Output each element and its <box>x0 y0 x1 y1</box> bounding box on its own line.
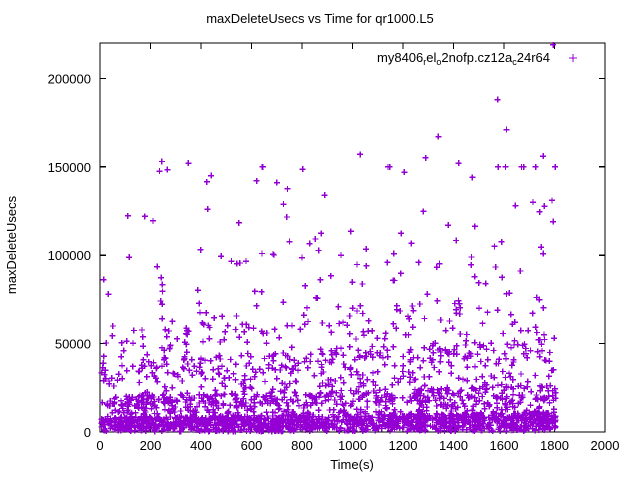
scatter-plot: maxDeleteUsecs vs Time for qr1000.L5 020… <box>0 0 640 480</box>
x-tick-label: 1800 <box>540 438 569 453</box>
x-tick-label: 1000 <box>338 438 367 453</box>
x-tick-label: 1200 <box>389 438 418 453</box>
x-axis-title: Time(s) <box>330 457 374 472</box>
legend-series-label: my8406relo2nofp.cz12ac24r64 <box>377 50 550 67</box>
y-axis-title: maxDeleteUsecs <box>4 195 19 294</box>
x-tick-label: 1400 <box>439 438 468 453</box>
y-tick-label: 0 <box>84 425 91 440</box>
legend[interactable]: my8406relo2nofp.cz12ac24r64 <box>377 50 577 67</box>
chart-container: maxDeleteUsecs vs Time for qr1000.L5 020… <box>0 0 640 480</box>
x-tick-label: 800 <box>291 438 313 453</box>
x-tick-label: 1600 <box>490 438 519 453</box>
x-tick-label: 200 <box>140 438 162 453</box>
x-tick-label: 400 <box>190 438 212 453</box>
x-tick-label: 0 <box>96 438 103 453</box>
y-tick-label: 150000 <box>48 160 91 175</box>
x-tick-label: 2000 <box>591 438 620 453</box>
x-tick-label: 600 <box>241 438 263 453</box>
y-tick-label: 200000 <box>48 71 91 86</box>
chart-title: maxDeleteUsecs vs Time for qr1000.L5 <box>206 11 434 26</box>
plot-background <box>0 0 640 480</box>
y-tick-label: 50000 <box>55 337 91 352</box>
y-tick-label: 100000 <box>48 248 91 263</box>
